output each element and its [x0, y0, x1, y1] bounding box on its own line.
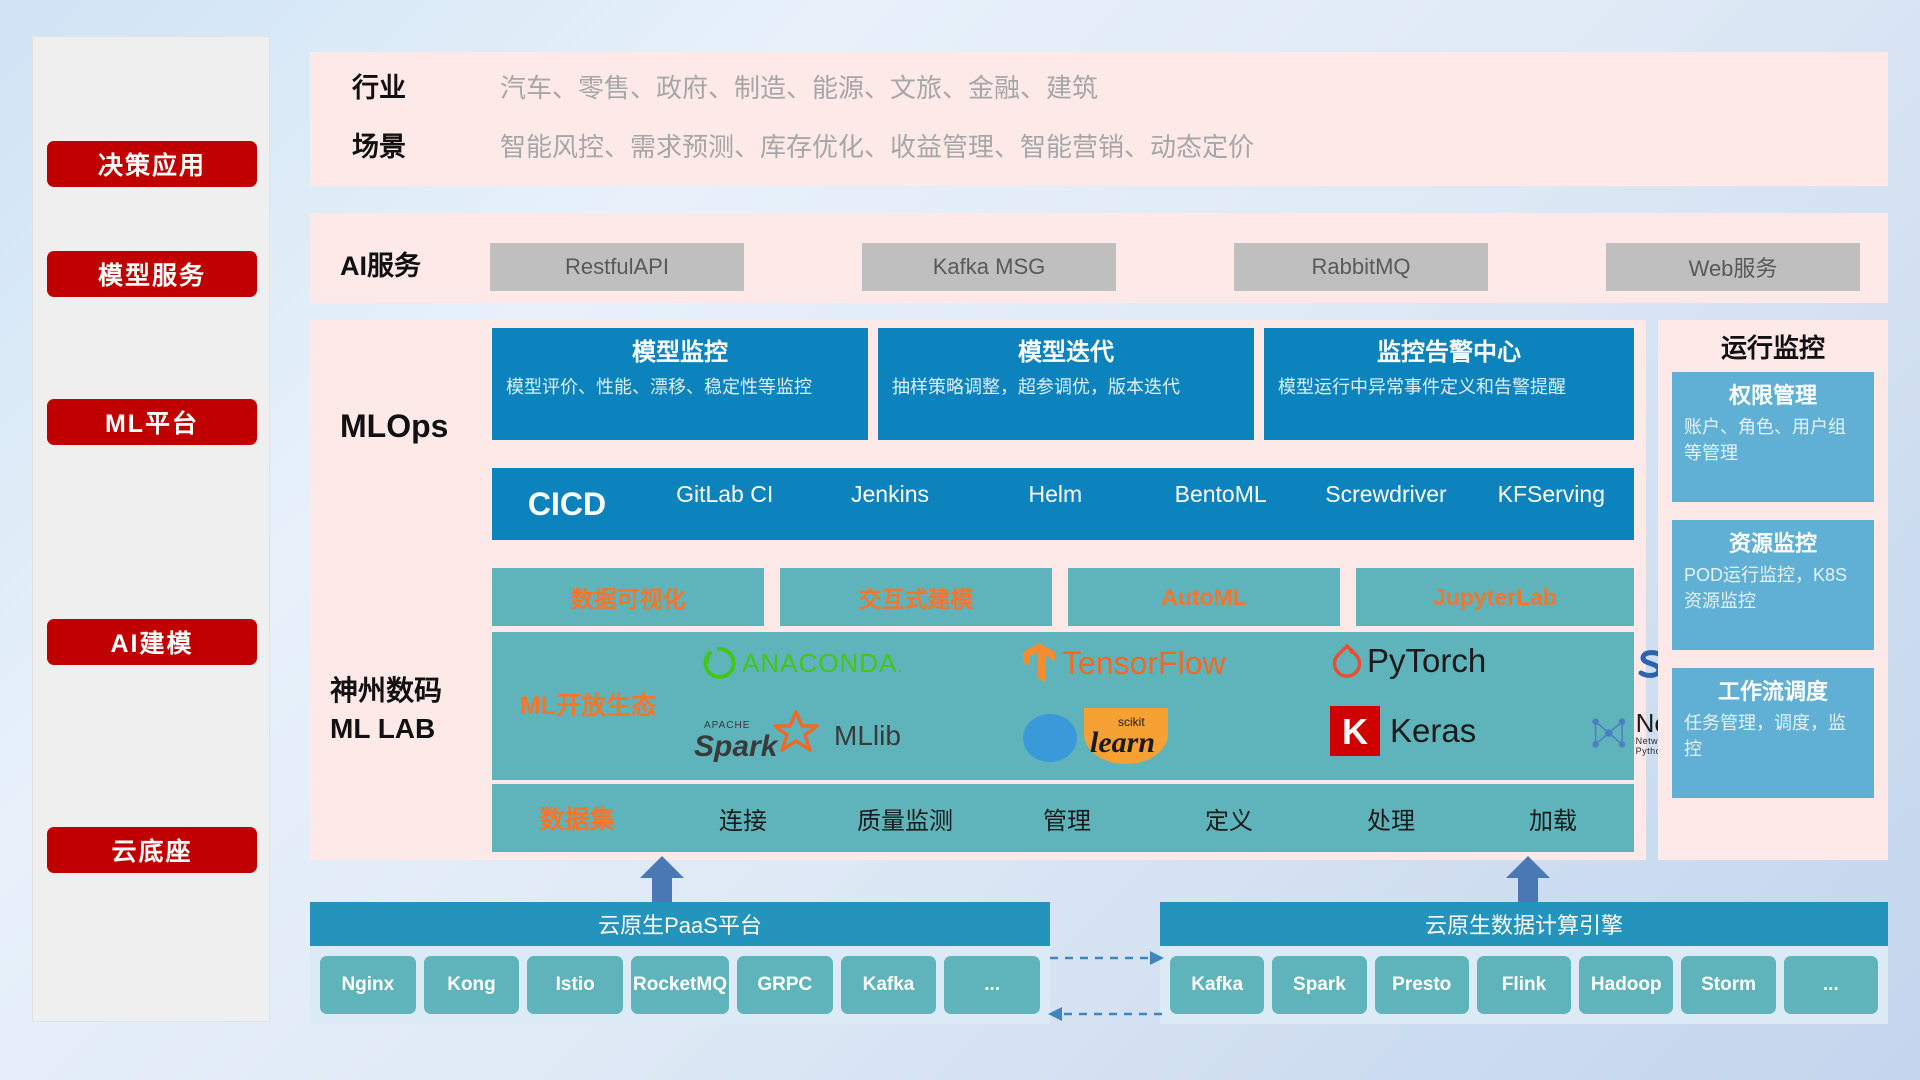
cicd-label: CICD [492, 486, 642, 523]
monitor-card-permission[interactable]: 权限管理 账户、角色、用户组等管理 [1672, 372, 1874, 502]
engine-chip-presto[interactable]: Presto [1375, 956, 1469, 1014]
tool-chip-label: AutoML [1161, 584, 1247, 611]
monitor-card-workflow[interactable]: 工作流调度 任务管理，调度，监控 [1672, 668, 1874, 798]
keras-wordmark: Keras [1390, 712, 1476, 750]
dataset-label: 数据集 [492, 800, 662, 836]
ml-lab-label-line1: 神州数码 [330, 672, 442, 710]
stage-label: 云底座 [111, 832, 192, 868]
cicd-item-bentoml[interactable]: BentoML [1138, 468, 1303, 508]
mlops-card-title: 模型迭代 [892, 336, 1240, 370]
ml-lab-label: 神州数码 ML LAB [330, 672, 442, 748]
paas-chip-grpc[interactable]: GRPC [737, 956, 833, 1014]
stage-label: 模型服务 [98, 256, 206, 292]
cicd-item-kfserving[interactable]: KFServing [1469, 468, 1634, 508]
service-chip-rabbitmq[interactable]: RabbitMQ [1234, 243, 1488, 291]
engine-chip-spark[interactable]: Spark [1272, 956, 1366, 1014]
tensorflow-wordmark: TensorFlow [1062, 645, 1226, 682]
paas-chip-kong[interactable]: Kong [424, 956, 520, 1014]
mlops-card-model-iteration[interactable]: 模型迭代 抽样策略调整，超参调优，版本迭代 [878, 328, 1254, 440]
monitor-card-title: 权限管理 [1684, 380, 1862, 412]
cicd-item-jenkins[interactable]: Jenkins [807, 468, 972, 508]
paas-chip-more[interactable]: ... [944, 956, 1040, 1014]
tool-chip-automl[interactable]: AutoML [1068, 568, 1340, 626]
tool-chip-label: 数据可视化 [571, 580, 686, 614]
ml-ecosystem-label: ML开放生态 [520, 686, 656, 722]
compute-engine-group: 云原生数据计算引擎 Kafka Spark Presto Flink Hadoo… [1160, 902, 1888, 1024]
industry-list: 汽车、零售、政府、制造、能源、文旅、金融、建筑 [500, 68, 1098, 105]
dataset-band: 数据集 连接 质量监测 管理 定义 处理 加载 [492, 784, 1634, 852]
scikit-learn-icon: scikit learn [1020, 704, 1196, 766]
mlops-card-alert-center[interactable]: 监控告警中心 模型运行中异常事件定义和告警提醒 [1264, 328, 1634, 440]
cicd-item-helm[interactable]: Helm [973, 468, 1138, 508]
cicd-band: CICD GitLab CI Jenkins Helm BentoML Scre… [492, 468, 1634, 540]
paas-chip-kafka[interactable]: Kafka [841, 956, 937, 1014]
pytorch-icon [1332, 643, 1362, 679]
mlops-card-model-monitor[interactable]: 模型监控 模型评价、性能、漂移、稳定性等监控 [492, 328, 868, 440]
mllib-wordmark: MLlib [834, 720, 901, 752]
paas-title: 云原生PaaS平台 [310, 902, 1050, 946]
anaconda-icon [702, 646, 736, 680]
anaconda-wordmark: ANACONDA. [742, 648, 904, 679]
dataset-item-manage[interactable]: 管理 [986, 801, 1148, 836]
stage-chip-ml-platform[interactable]: ML平台 [47, 399, 257, 445]
mlops-card-title: 模型监控 [506, 336, 854, 370]
svg-text:K: K [1342, 711, 1368, 752]
tool-chip-data-viz[interactable]: 数据可视化 [492, 568, 764, 626]
dataset-item-process[interactable]: 处理 [1310, 801, 1472, 836]
service-chip-restfulapi[interactable]: RestfulAPI [490, 243, 744, 291]
paas-chip-rocketmq[interactable]: RocketMQ [631, 956, 729, 1014]
service-chip-web-service[interactable]: Web服务 [1606, 243, 1860, 291]
keras-logo: K Keras [1330, 706, 1476, 756]
service-chip-label: RabbitMQ [1311, 254, 1410, 280]
stage-rail: 决策应用 模型服务 ML平台 AI建模 云底座 [32, 36, 270, 1022]
tool-chip-interactive[interactable]: 交互式建模 [780, 568, 1052, 626]
paas-chip-row: Nginx Kong Istio RocketMQ GRPC Kafka ... [310, 946, 1050, 1024]
stage-label: 决策应用 [98, 146, 206, 182]
scikit-learn-logo: scikit learn [1020, 704, 1196, 766]
scenario-row-label: 场景 [352, 125, 406, 164]
pytorch-logo: PyTorch [1332, 642, 1486, 680]
upward-arrow-paas [640, 856, 684, 904]
ml-lab-label-line2: ML LAB [330, 710, 442, 748]
scenario-list: 智能风控、需求预测、库存优化、收益管理、智能营销、动态定价 [500, 127, 1254, 164]
mlops-label: MLOps [340, 408, 448, 445]
svg-text:Spark: Spark [694, 730, 779, 763]
dataset-item-connect[interactable]: 连接 [662, 801, 824, 836]
monitor-card-desc: 账户、角色、用户组等管理 [1684, 414, 1862, 466]
engine-chip-hadoop[interactable]: Hadoop [1579, 956, 1673, 1014]
paas-group: 云原生PaaS平台 Nginx Kong Istio RocketMQ GRPC… [310, 902, 1050, 1024]
service-chip-label: Web服务 [1689, 251, 1778, 283]
engine-chip-flink[interactable]: Flink [1477, 956, 1571, 1014]
stage-label: ML平台 [105, 404, 199, 440]
cicd-item-gitlab-ci[interactable]: GitLab CI [642, 468, 807, 508]
paas-chip-istio[interactable]: Istio [527, 956, 623, 1014]
upward-arrow-engine [1506, 856, 1550, 904]
spark-mllib-logo: APACHE Spark MLlib [692, 708, 901, 764]
engine-chip-more[interactable]: ... [1784, 956, 1878, 1014]
compute-engine-title: 云原生数据计算引擎 [1160, 902, 1888, 946]
cloud-link-arrows [1046, 940, 1166, 1030]
ai-service-label: AI服务 [340, 244, 421, 283]
mlops-card-desc: 抽样策略调整，超参调优，版本迭代 [892, 374, 1240, 400]
service-chip-label: RestfulAPI [565, 254, 669, 280]
networkx-icon [1588, 711, 1630, 755]
stage-chip-ai-modeling[interactable]: AI建模 [47, 619, 257, 665]
engine-chip-kafka[interactable]: Kafka [1170, 956, 1264, 1014]
service-chip-label: Kafka MSG [933, 254, 1045, 280]
stage-chip-model-service[interactable]: 模型服务 [47, 251, 257, 297]
mlops-card-title: 监控告警中心 [1278, 336, 1620, 370]
tensorflow-icon [1022, 642, 1056, 684]
ml-ecosystem-band: ML开放生态 ANACONDA. TensorFlow PyTorch [492, 632, 1634, 780]
monitor-card-title: 资源监控 [1684, 528, 1862, 560]
stage-chip-cloud-base[interactable]: 云底座 [47, 827, 257, 873]
monitor-card-desc: POD运行监控，K8S资源监控 [1684, 562, 1862, 614]
tool-chip-jupyterlab[interactable]: JupyterLab [1356, 568, 1634, 626]
tool-chip-label: 交互式建模 [859, 580, 974, 614]
tool-chip-label: JupyterLab [1433, 584, 1557, 611]
mlops-card-desc: 模型运行中异常事件定义和告警提醒 [1278, 374, 1620, 400]
cicd-item-screwdriver[interactable]: Screwdriver [1303, 468, 1468, 508]
stage-label: AI建模 [110, 624, 193, 660]
pytorch-wordmark: PyTorch [1367, 642, 1486, 680]
engine-chip-storm[interactable]: Storm [1681, 956, 1775, 1014]
dataset-item-quality[interactable]: 质量监测 [824, 801, 986, 836]
dataset-item-load[interactable]: 加载 [1472, 801, 1634, 836]
keras-icon: K [1330, 706, 1380, 756]
compute-engine-chip-row: Kafka Spark Presto Flink Hadoop Storm ..… [1160, 946, 1888, 1024]
service-chip-kafka-msg[interactable]: Kafka MSG [862, 243, 1116, 291]
anaconda-logo: ANACONDA. [702, 646, 904, 680]
monitor-card-resource[interactable]: 资源监控 POD运行监控，K8S资源监控 [1672, 520, 1874, 650]
industry-row-label: 行业 [352, 66, 406, 105]
svg-text:learn: learn [1090, 726, 1155, 759]
mlops-card-desc: 模型评价、性能、漂移、稳定性等监控 [506, 374, 854, 400]
dataset-item-define[interactable]: 定义 [1148, 801, 1310, 836]
monitor-card-title: 工作流调度 [1684, 676, 1862, 708]
monitor-card-desc: 任务管理，调度，监控 [1684, 710, 1862, 762]
stage-chip-decision[interactable]: 决策应用 [47, 141, 257, 187]
spark-icon: APACHE Spark [692, 708, 828, 764]
paas-chip-nginx[interactable]: Nginx [320, 956, 416, 1014]
tensorflow-logo: TensorFlow [1022, 642, 1226, 684]
runtime-monitor-title: 运行监控 [1658, 328, 1888, 365]
